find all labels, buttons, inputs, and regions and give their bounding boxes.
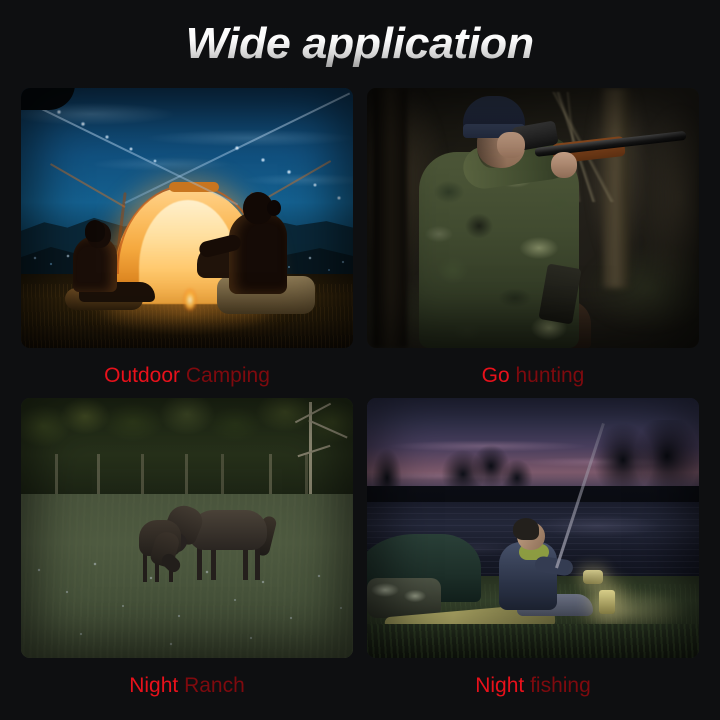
caption-primary-text: Night	[475, 674, 524, 697]
panel-outdoor-camping[interactable]: Outdoor Camping	[21, 88, 353, 386]
photo-vignette	[21, 88, 353, 348]
caption-primary-text: Night	[129, 674, 178, 697]
caption-go-hunting: Go hunting	[367, 365, 699, 386]
caption-primary-text: Go	[482, 364, 510, 387]
photo-night-ranch	[21, 398, 353, 658]
caption-secondary-text: fishing	[530, 674, 591, 697]
caption-secondary-text: hunting	[515, 364, 584, 387]
caption-secondary-text: Ranch	[184, 674, 245, 697]
panel-go-hunting[interactable]: Go hunting	[367, 88, 699, 386]
photo-outdoor-camping	[21, 88, 353, 348]
panel-night-fishing[interactable]: Night fishing	[367, 398, 699, 696]
poster-page: Wide application	[0, 0, 720, 720]
photo-night-fishing	[367, 398, 699, 658]
caption-primary-text: Outdoor	[104, 364, 180, 387]
page-title: Wide application	[186, 19, 534, 69]
panel-night-ranch[interactable]: Night Ranch	[21, 398, 353, 696]
photo-go-hunting	[367, 88, 699, 348]
photo-vignette	[367, 88, 699, 348]
photo-vignette	[367, 398, 699, 658]
caption-secondary-text: Camping	[186, 364, 270, 387]
title-bar: Wide application	[0, 0, 720, 88]
caption-night-fishing: Night fishing	[367, 675, 699, 696]
caption-outdoor-camping: Outdoor Camping	[21, 365, 353, 386]
panel-grid: Outdoor Camping	[0, 88, 720, 720]
photo-vignette	[21, 398, 353, 658]
caption-night-ranch: Night Ranch	[21, 675, 353, 696]
